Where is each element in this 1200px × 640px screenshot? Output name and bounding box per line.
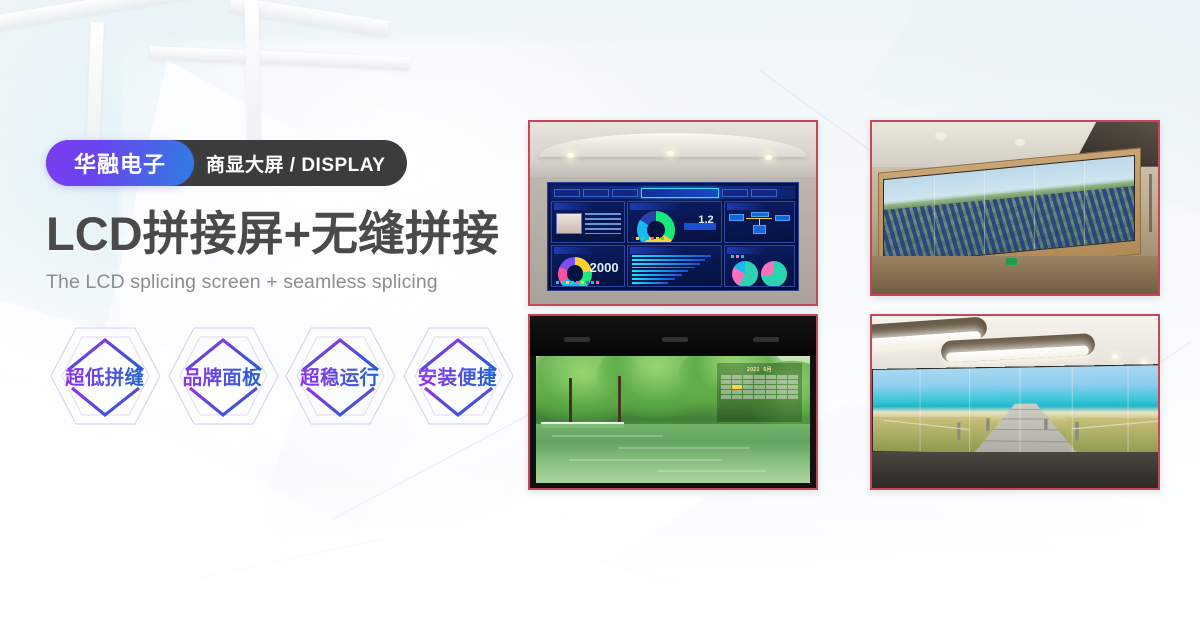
photo-beach-boardwalk-video-wall[interactable] [870, 314, 1160, 490]
page-title: LCD拼接屏+无缝拼接 [46, 208, 516, 261]
promo-banner: 商显大屏 / DISPLAY 华融电子 LCD拼接屏+无缝拼接 The LCD … [0, 0, 1200, 640]
page-subtitle: The LCD splicing screen + seamless splic… [46, 271, 516, 294]
calendar-overlay: 2021 6月 [717, 363, 802, 422]
feature-list: 超低拼缝 品牌面板 [46, 320, 516, 432]
dashboard-screen: 1.2 [547, 182, 799, 291]
photo-solar-farm-video-wall[interactable] [870, 120, 1160, 296]
photo-dashboard-video-wall[interactable]: 1.2 [528, 120, 818, 306]
product-photo-grid: 1.2 [528, 120, 1168, 490]
feature-label: 超低拼缝 [65, 361, 144, 390]
brand-badge: 华融电子 [46, 140, 194, 186]
willow-pond-screen: 2021 6月 [536, 356, 811, 483]
feature-hexagon-2: 品牌面板 [164, 320, 282, 432]
feature-hexagon-3: 超稳运行 [281, 320, 399, 432]
feature-hexagon-4: 安装便捷 [399, 320, 517, 432]
feature-label: 安装便捷 [418, 361, 497, 390]
beach-boardwalk-screen [872, 364, 1158, 457]
screen-bezel [530, 316, 816, 356]
feature-label: 超稳运行 [300, 361, 379, 390]
feature-label: 品牌面板 [183, 361, 262, 390]
badge-row: 商显大屏 / DISPLAY 华融电子 [46, 140, 516, 186]
photo-willow-pond-video-wall[interactable]: 2021 6月 [528, 314, 818, 490]
feature-hexagon-1: 超低拼缝 [46, 320, 164, 432]
headline-block: 商显大屏 / DISPLAY 华融电子 LCD拼接屏+无缝拼接 The LCD … [46, 140, 516, 432]
